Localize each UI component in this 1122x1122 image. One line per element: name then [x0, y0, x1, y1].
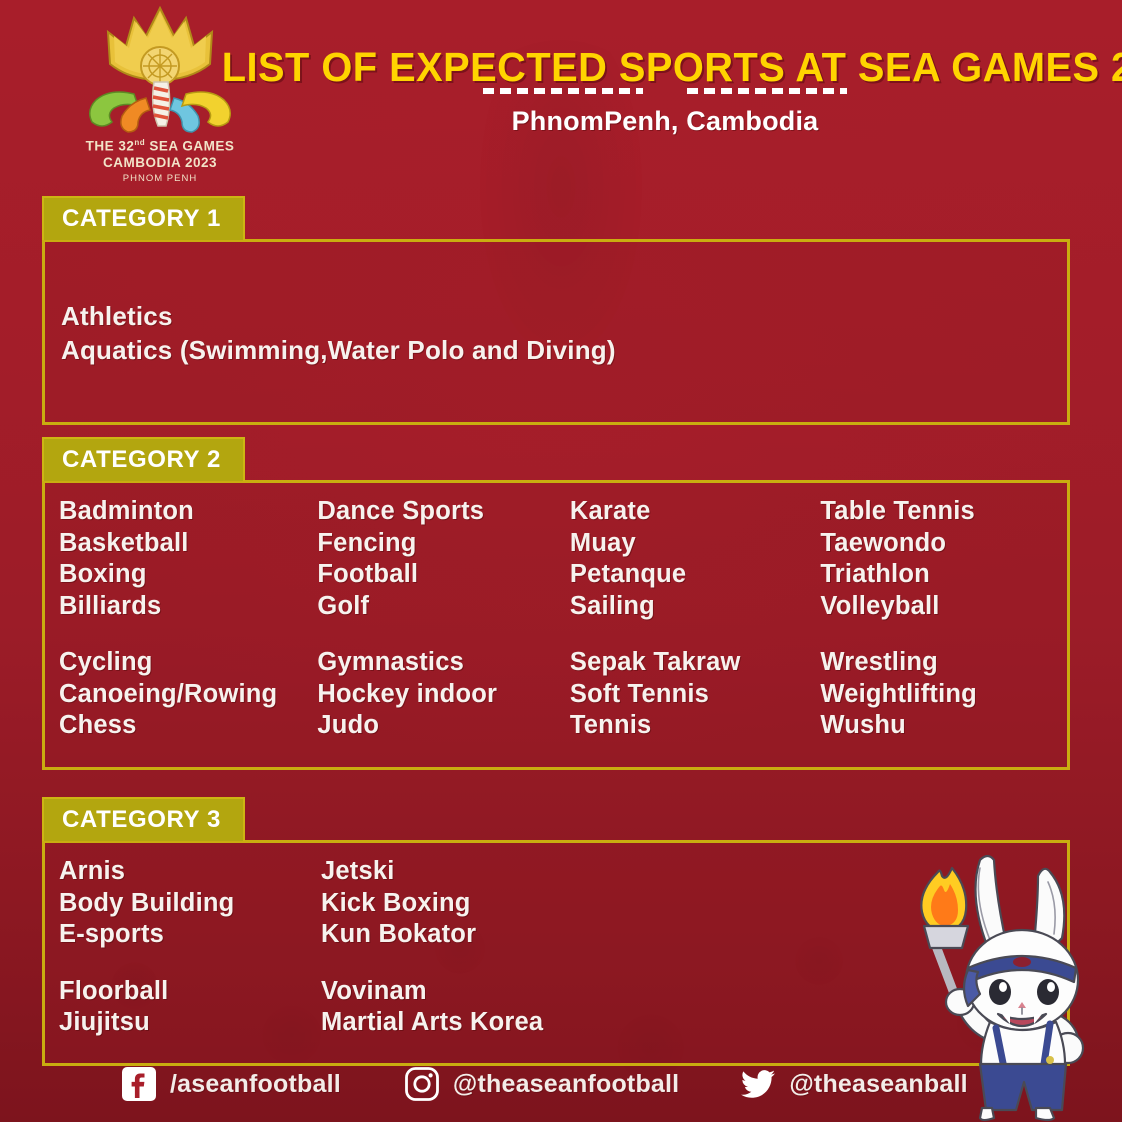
sport-item: Jiujitsu — [59, 1007, 321, 1039]
sport-item: Canoeing/Rowing — [59, 679, 317, 711]
sport-item: Table Tennis — [820, 496, 1067, 528]
sport-column: Table Tennis Taewondo Triathlon Volleyba… — [820, 496, 1067, 742]
sport-group: Floorball Jiujitsu — [59, 976, 321, 1039]
sport-group: Wrestling Weightlifting Wushu — [820, 647, 1067, 742]
instagram-icon — [403, 1065, 441, 1103]
sport-group: Vovinam Martial Arts Korea — [321, 976, 621, 1039]
divider-dash-right — [687, 88, 847, 94]
category-1-columns: Athletics Aquatics (Swimming,Water Polo … — [45, 242, 1067, 367]
sport-item: Arnis — [59, 856, 321, 888]
sport-item: Cycling — [59, 647, 317, 679]
facebook-handle: /aseanfootball — [170, 1070, 341, 1099]
logo-caption: THE 32nd SEA GAMES CAMBODIA 2023 PHNOM P… — [62, 138, 258, 185]
sport-item: Weightlifting — [820, 679, 1067, 711]
sport-group: Karate Muay Petanque Sailing — [570, 496, 821, 622]
sport-column: Athletics Aquatics (Swimming,Water Polo … — [61, 299, 616, 367]
sport-item: Kun Bokator — [321, 919, 621, 951]
sport-group: Gymnastics Hockey indoor Judo — [317, 647, 570, 742]
sport-item: Muay — [570, 528, 821, 560]
sport-item: Karate — [570, 496, 821, 528]
divider-dash-left — [483, 88, 643, 94]
category-1-body: Athletics Aquatics (Swimming,Water Polo … — [42, 239, 1070, 425]
sport-item: Sailing — [570, 591, 821, 623]
sport-item: Aquatics (Swimming,Water Polo and Diving… — [61, 333, 616, 367]
logo-caption-line1-text: THE 32 — [86, 139, 135, 154]
sport-item: Athletics — [61, 299, 616, 333]
rabbit-mascot-icon — [872, 852, 1122, 1122]
sport-item: Martial Arts Korea — [321, 1007, 621, 1039]
sport-group: Badminton Basketball Boxing Billiards — [59, 496, 317, 622]
sport-item: E-sports — [59, 919, 321, 951]
sport-item: Kick Boxing — [321, 888, 621, 920]
sport-item: Gymnastics — [317, 647, 570, 679]
sport-item: Football — [317, 559, 570, 591]
sport-group: Sepak Takraw Soft Tennis Tennis — [570, 647, 821, 742]
category-2-body: Badminton Basketball Boxing Billiards Cy… — [42, 480, 1070, 770]
sport-item: Triathlon — [820, 559, 1067, 591]
sport-item: Boxing — [59, 559, 317, 591]
sport-item: Badminton — [59, 496, 317, 528]
sport-item: Dance Sports — [317, 496, 570, 528]
social-link-facebook[interactable]: /aseanfootball — [120, 1065, 341, 1103]
logo-caption-ordinal: nd — [134, 138, 145, 147]
twitter-icon — [739, 1065, 777, 1103]
category-block-2: CATEGORY 2 Badminton Basketball Boxing B… — [42, 437, 1070, 770]
sport-item: Billiards — [59, 591, 317, 623]
sport-group: Jetski Kick Boxing Kun Bokator — [321, 856, 621, 951]
sea-games-2023-sports-poster: THE 32nd SEA GAMES CAMBODIA 2023 PHNOM P… — [0, 0, 1122, 1122]
sport-item: Jetski — [321, 856, 621, 888]
sport-column: Karate Muay Petanque Sailing Sepak Takra… — [570, 496, 821, 742]
sport-group: Athletics Aquatics (Swimming,Water Polo … — [61, 299, 616, 367]
social-link-instagram[interactable]: @theaseanfootball — [403, 1065, 679, 1103]
sport-column: Badminton Basketball Boxing Billiards Cy… — [59, 496, 317, 742]
sport-item: Sepak Takraw — [570, 647, 821, 679]
logo-caption-line2: CAMBODIA 2023 — [62, 155, 258, 172]
sport-item: Judo — [317, 710, 570, 742]
sport-item: Tennis — [570, 710, 821, 742]
sport-item: Floorball — [59, 976, 321, 1008]
title-divider — [208, 88, 1122, 94]
logo-caption-line1: THE 32nd SEA GAMES — [62, 138, 258, 155]
page-subtitle: PhnomPenh, Cambodia — [208, 106, 1122, 137]
category-2-label: CATEGORY 2 — [42, 437, 245, 481]
sport-group: Arnis Body Building E-sports — [59, 856, 321, 951]
logo-caption-line1-rest: SEA GAMES — [145, 139, 234, 154]
instagram-handle: @theaseanfootball — [453, 1070, 679, 1099]
logo-caption-line3: PHNOM PENH — [62, 173, 258, 185]
category-1-label: CATEGORY 1 — [42, 196, 245, 240]
category-2-columns: Badminton Basketball Boxing Billiards Cy… — [45, 483, 1067, 742]
sport-item: Petanque — [570, 559, 821, 591]
sport-item: Fencing — [317, 528, 570, 560]
sea-games-logo: THE 32nd SEA GAMES CAMBODIA 2023 PHNOM P… — [62, 2, 258, 194]
sport-item: Volleyball — [820, 591, 1067, 623]
sport-item: Chess — [59, 710, 317, 742]
sport-group: Dance Sports Fencing Football Golf — [317, 496, 570, 622]
facebook-icon — [120, 1065, 158, 1103]
sport-item: Basketball — [59, 528, 317, 560]
sport-item: Wushu — [820, 710, 1067, 742]
sport-column: Dance Sports Fencing Football Golf Gymna… — [317, 496, 570, 742]
poster-header: THE 32nd SEA GAMES CAMBODIA 2023 PHNOM P… — [0, 0, 1122, 196]
category-3-label: CATEGORY 3 — [42, 797, 245, 841]
sport-group: Table Tennis Taewondo Triathlon Volleyba… — [820, 496, 1067, 622]
sport-item: Golf — [317, 591, 570, 623]
sport-column: Arnis Body Building E-sports Floorball J… — [59, 856, 321, 1039]
sport-column: Jetski Kick Boxing Kun Bokator Vovinam M… — [321, 856, 621, 1039]
sport-group: Cycling Canoeing/Rowing Chess — [59, 647, 317, 742]
sport-item: Wrestling — [820, 647, 1067, 679]
sport-item: Taewondo — [820, 528, 1067, 560]
sport-item: Vovinam — [321, 976, 621, 1008]
sport-item: Hockey indoor — [317, 679, 570, 711]
page-title: LIST OF EXPECTED SPORTS AT SEA GAMES 202… — [222, 44, 1109, 91]
sport-item: Soft Tennis — [570, 679, 821, 711]
category-block-1: CATEGORY 1 Athletics Aquatics (Swimming,… — [42, 196, 1070, 425]
sport-item: Body Building — [59, 888, 321, 920]
